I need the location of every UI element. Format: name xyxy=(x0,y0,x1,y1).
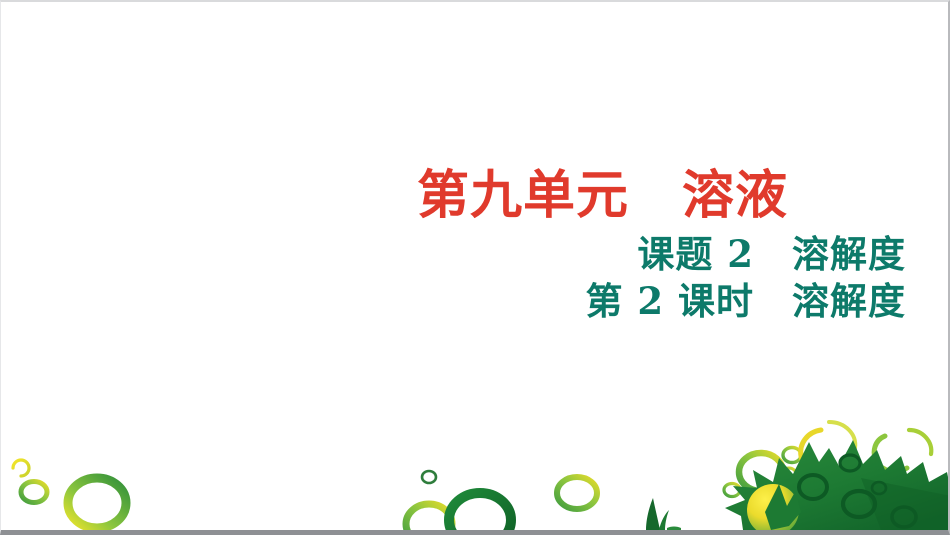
ring-in-leaf-e xyxy=(872,482,886,494)
ring-leaf-small-a xyxy=(783,448,801,463)
ring-mid-yellow xyxy=(406,504,452,530)
dotted-arc-group xyxy=(801,422,932,471)
ring-right-yellowgreen xyxy=(557,477,597,509)
leaf-tip-over-sphere xyxy=(765,484,801,530)
ring-leaf-small-b xyxy=(782,468,796,480)
ring-mid-tiny xyxy=(422,471,436,483)
ring-mid-green xyxy=(449,493,511,530)
ring-left-small-arc xyxy=(13,460,29,476)
gradient-sphere xyxy=(747,484,799,530)
ring-leaf-small-c xyxy=(724,484,740,497)
ring-in-leaf-a xyxy=(799,475,827,499)
ring-in-leaf-b xyxy=(840,455,860,471)
ring-in-leaf-c xyxy=(843,491,875,517)
ring-left-small xyxy=(21,482,47,503)
grass-tuft xyxy=(646,498,681,530)
title-block: 第九单元 溶液 课题 2 溶解度 第 2 课时 溶解度 xyxy=(1,170,906,320)
subtitle-lesson: 课题 2 溶解度 xyxy=(1,236,906,273)
ring-in-leaf-d xyxy=(892,507,916,527)
subtitle-period: 第 2 课时 溶解度 xyxy=(1,283,906,320)
maple-leaf-icon xyxy=(725,440,950,530)
ring-leaf-outer xyxy=(739,453,783,491)
page-title: 第九单元 溶液 xyxy=(1,170,906,222)
ring-left-large xyxy=(68,478,126,528)
decorative-artwork xyxy=(1,400,950,530)
presentation-slide: 第九单元 溶液 课题 2 溶解度 第 2 课时 溶解度 xyxy=(0,0,950,535)
